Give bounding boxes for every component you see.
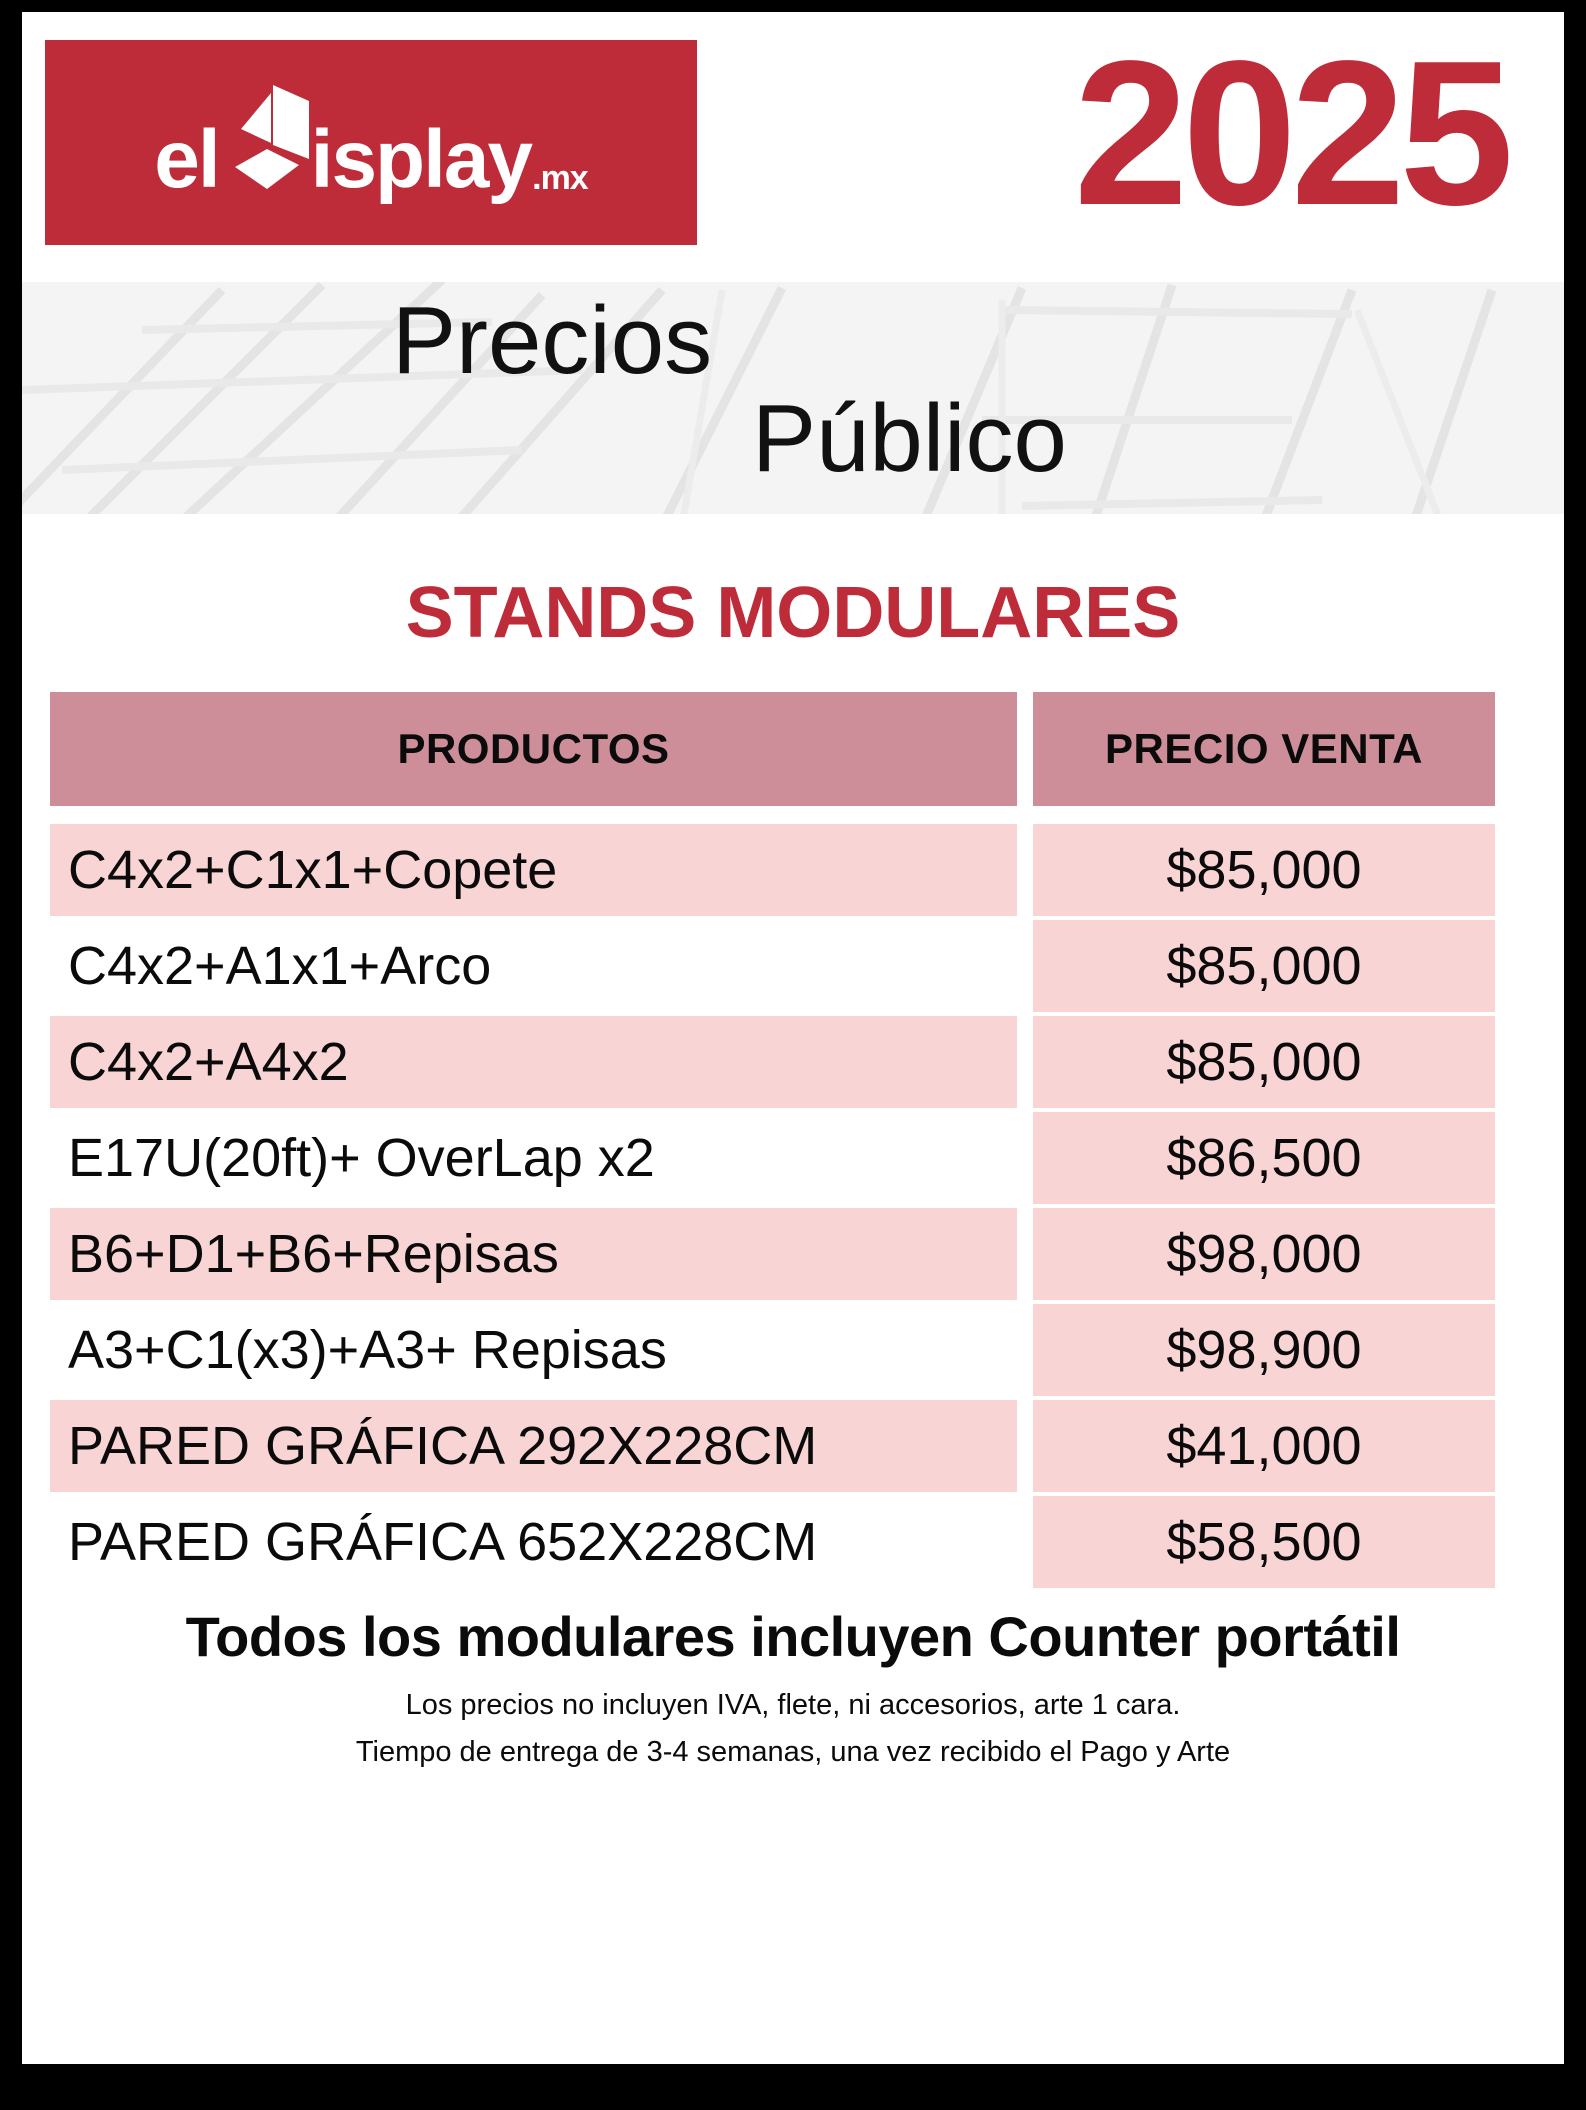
section-title: STANDS MODULARES xyxy=(22,572,1564,654)
table-row: E17U(20ft)+ OverLap x2 $86,500 xyxy=(50,1112,1536,1204)
product-name: PARED GRÁFICA 292X228CM xyxy=(68,1415,817,1477)
table-cell-product: C4x2+A1x1+Arco xyxy=(50,920,1017,1012)
table-cell-product: C4x2+C1x1+Copete xyxy=(50,824,1017,916)
table-cell-price: $41,000 xyxy=(1033,1400,1495,1492)
title-banner: Precios Público xyxy=(22,270,1564,526)
table-row: B6+D1+B6+Repisas $98,000 xyxy=(50,1208,1536,1300)
table-cell-price: $86,500 xyxy=(1033,1112,1495,1204)
product-price: $85,000 xyxy=(1166,935,1361,997)
year-label: 2025 xyxy=(1074,30,1508,236)
brand-logo: el isplay .mx xyxy=(45,40,697,245)
table-cell-product: C4x2+A4x2 xyxy=(50,1016,1017,1108)
product-price: $98,000 xyxy=(1166,1223,1361,1285)
banner-line-publico: Público xyxy=(22,390,1564,488)
product-name: A3+C1(x3)+A3+ Repisas xyxy=(68,1319,667,1381)
table-header-productos: PRODUCTOS xyxy=(50,692,1017,806)
page-sheet: el isplay .mx 2025 xyxy=(22,12,1564,2064)
table-row: PARED GRÁFICA 292X228CM $41,000 xyxy=(50,1400,1536,1492)
product-name: E17U(20ft)+ OverLap x2 xyxy=(68,1127,655,1189)
table-cell-product: A3+C1(x3)+A3+ Repisas xyxy=(50,1304,1017,1396)
table-cell-product: PARED GRÁFICA 652X228CM xyxy=(50,1496,1017,1588)
price-table: PRODUCTOS PRECIO VENTA C4x2+C1x1+Copete … xyxy=(50,692,1536,1588)
banner-text-block: Precios Público xyxy=(22,270,1564,488)
banner-edge-bottom xyxy=(22,514,1564,526)
footer-highlight: Todos los modulares incluyen Counter por… xyxy=(22,1604,1564,1669)
logo-text-mx: .mx xyxy=(532,161,588,201)
product-price: $98,900 xyxy=(1166,1319,1361,1381)
table-row: C4x2+A4x2 $85,000 xyxy=(50,1016,1536,1108)
table-cell-price: $85,000 xyxy=(1033,824,1495,916)
table-cell-product: PARED GRÁFICA 292X228CM xyxy=(50,1400,1017,1492)
table-cell-price: $98,900 xyxy=(1033,1304,1495,1396)
table-cell-price: $85,000 xyxy=(1033,1016,1495,1108)
table-row: C4x2+C1x1+Copete $85,000 xyxy=(50,824,1536,916)
page-header: el isplay .mx 2025 xyxy=(22,12,1564,270)
footer-note-1: Los precios no incluyen IVA, flete, ni a… xyxy=(22,1689,1564,1722)
logo-text-el: el xyxy=(154,119,218,201)
table-cell-product: E17U(20ft)+ OverLap x2 xyxy=(50,1112,1017,1204)
table-cell-product: B6+D1+B6+Repisas xyxy=(50,1208,1017,1300)
table-header-precio-venta: PRECIO VENTA xyxy=(1033,692,1495,806)
product-price: $58,500 xyxy=(1166,1511,1361,1573)
product-price: $41,000 xyxy=(1166,1415,1361,1477)
product-price: $86,500 xyxy=(1166,1127,1361,1189)
page-footer: Todos los modulares incluyen Counter por… xyxy=(22,1604,1564,1769)
table-header-row: PRODUCTOS PRECIO VENTA xyxy=(50,692,1536,806)
product-price: $85,000 xyxy=(1166,839,1361,901)
banner-line-precios: Precios xyxy=(22,292,1564,390)
logo-text-isplay: isplay xyxy=(311,119,531,201)
price-list-page: el isplay .mx 2025 xyxy=(0,0,1586,2110)
product-name: B6+D1+B6+Repisas xyxy=(68,1223,559,1285)
table-header-productos-label: PRODUCTOS xyxy=(397,725,669,773)
product-name: C4x2+A1x1+Arco xyxy=(68,935,491,997)
table-header-precio-venta-label: PRECIO VENTA xyxy=(1105,725,1423,773)
product-name: C4x2+A4x2 xyxy=(68,1031,349,1093)
table-cell-price: $85,000 xyxy=(1033,920,1495,1012)
table-cell-price: $58,500 xyxy=(1033,1496,1495,1588)
logo-wordmark: el isplay .mx xyxy=(154,85,587,201)
product-name: C4x2+C1x1+Copete xyxy=(68,839,557,901)
display-cube-icon xyxy=(223,85,309,197)
table-row: A3+C1(x3)+A3+ Repisas $98,900 xyxy=(50,1304,1536,1396)
table-row: PARED GRÁFICA 652X228CM $58,500 xyxy=(50,1496,1536,1588)
product-name: PARED GRÁFICA 652X228CM xyxy=(68,1511,817,1573)
footer-note-2: Tiempo de entrega de 3-4 semanas, una ve… xyxy=(22,1736,1564,1769)
table-row: C4x2+A1x1+Arco $85,000 xyxy=(50,920,1536,1012)
product-price: $85,000 xyxy=(1166,1031,1361,1093)
table-cell-price: $98,000 xyxy=(1033,1208,1495,1300)
